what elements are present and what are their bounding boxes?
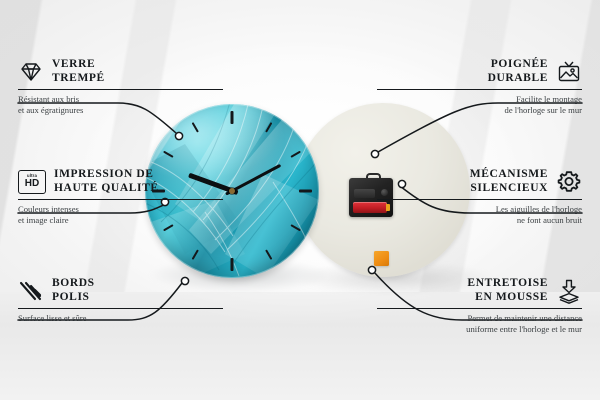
feature-impression-haute-qualite: ultra HD IMPRESSION DE HAUTE QUALITÉ Cou… <box>18 168 223 225</box>
feature-rule <box>18 308 223 309</box>
picture-hanger-icon <box>556 59 582 85</box>
feature-subtitle: Surface lisse et sûre <box>18 313 223 324</box>
feature-title: MÉCANISME SILENCIEUX <box>470 168 548 195</box>
feature-title: ENTRETOISE EN MOUSSE <box>467 277 548 304</box>
feature-header: BORDS POLIS <box>18 277 223 304</box>
feature-mecanisme-silencieux: MÉCANISME SILENCIEUX Les aiguilles de l'… <box>377 168 582 225</box>
feature-subtitle: Les aiguilles de l'horloge ne font aucun… <box>377 204 582 225</box>
feature-subtitle: Couleurs intenses et image claire <box>18 204 223 225</box>
ultra-hd-large-label: HD <box>25 179 39 189</box>
feature-rule <box>18 199 223 200</box>
feature-poignee-durable: POIGNÉE DURABLE Facilite le montage de l… <box>377 58 582 115</box>
foam-spacer <box>374 251 389 266</box>
feature-rule <box>18 89 223 90</box>
feature-title: IMPRESSION DE HAUTE QUALITÉ <box>54 168 159 195</box>
feature-rule <box>377 199 582 200</box>
feature-header: MÉCANISME SILENCIEUX <box>377 168 582 195</box>
feature-bords-polis: BORDS POLIS Surface lisse et sûre <box>18 277 223 324</box>
feature-header: ultra HD IMPRESSION DE HAUTE QUALITÉ <box>18 168 223 195</box>
feature-title: POIGNÉE DURABLE <box>488 58 548 85</box>
feature-rule <box>377 308 582 309</box>
feature-subtitle: Facilite le montage de l'horloge sur le … <box>377 94 582 115</box>
feature-entretoise-en-mousse: ENTRETOISE EN MOUSSE Permet de maintenir… <box>377 277 582 334</box>
feature-header: POIGNÉE DURABLE <box>377 58 582 85</box>
infographic-canvas: VERRE TREMPÉ Résistant aux bris et aux é… <box>0 0 600 400</box>
feature-rule <box>377 89 582 90</box>
diagonal-lines-icon <box>18 278 44 304</box>
diamond-icon <box>18 59 44 85</box>
feature-subtitle: Permet de maintenir une distance uniform… <box>377 313 582 334</box>
feature-header: VERRE TREMPÉ <box>18 58 223 85</box>
feature-verre-trempe: VERRE TREMPÉ Résistant aux bris et aux é… <box>18 58 223 115</box>
mechanism-detail <box>354 189 375 198</box>
gear-icon <box>556 169 582 195</box>
feature-subtitle: Résistant aux bris et aux égratignures <box>18 94 223 115</box>
stacked-layers-arrow-icon <box>556 278 582 304</box>
feature-title: BORDS POLIS <box>52 277 95 304</box>
clock-hub <box>229 188 235 194</box>
feature-title: VERRE TREMPÉ <box>52 58 105 85</box>
feature-header: ENTRETOISE EN MOUSSE <box>377 277 582 304</box>
ultra-hd-badge-icon: ultra HD <box>18 170 46 194</box>
